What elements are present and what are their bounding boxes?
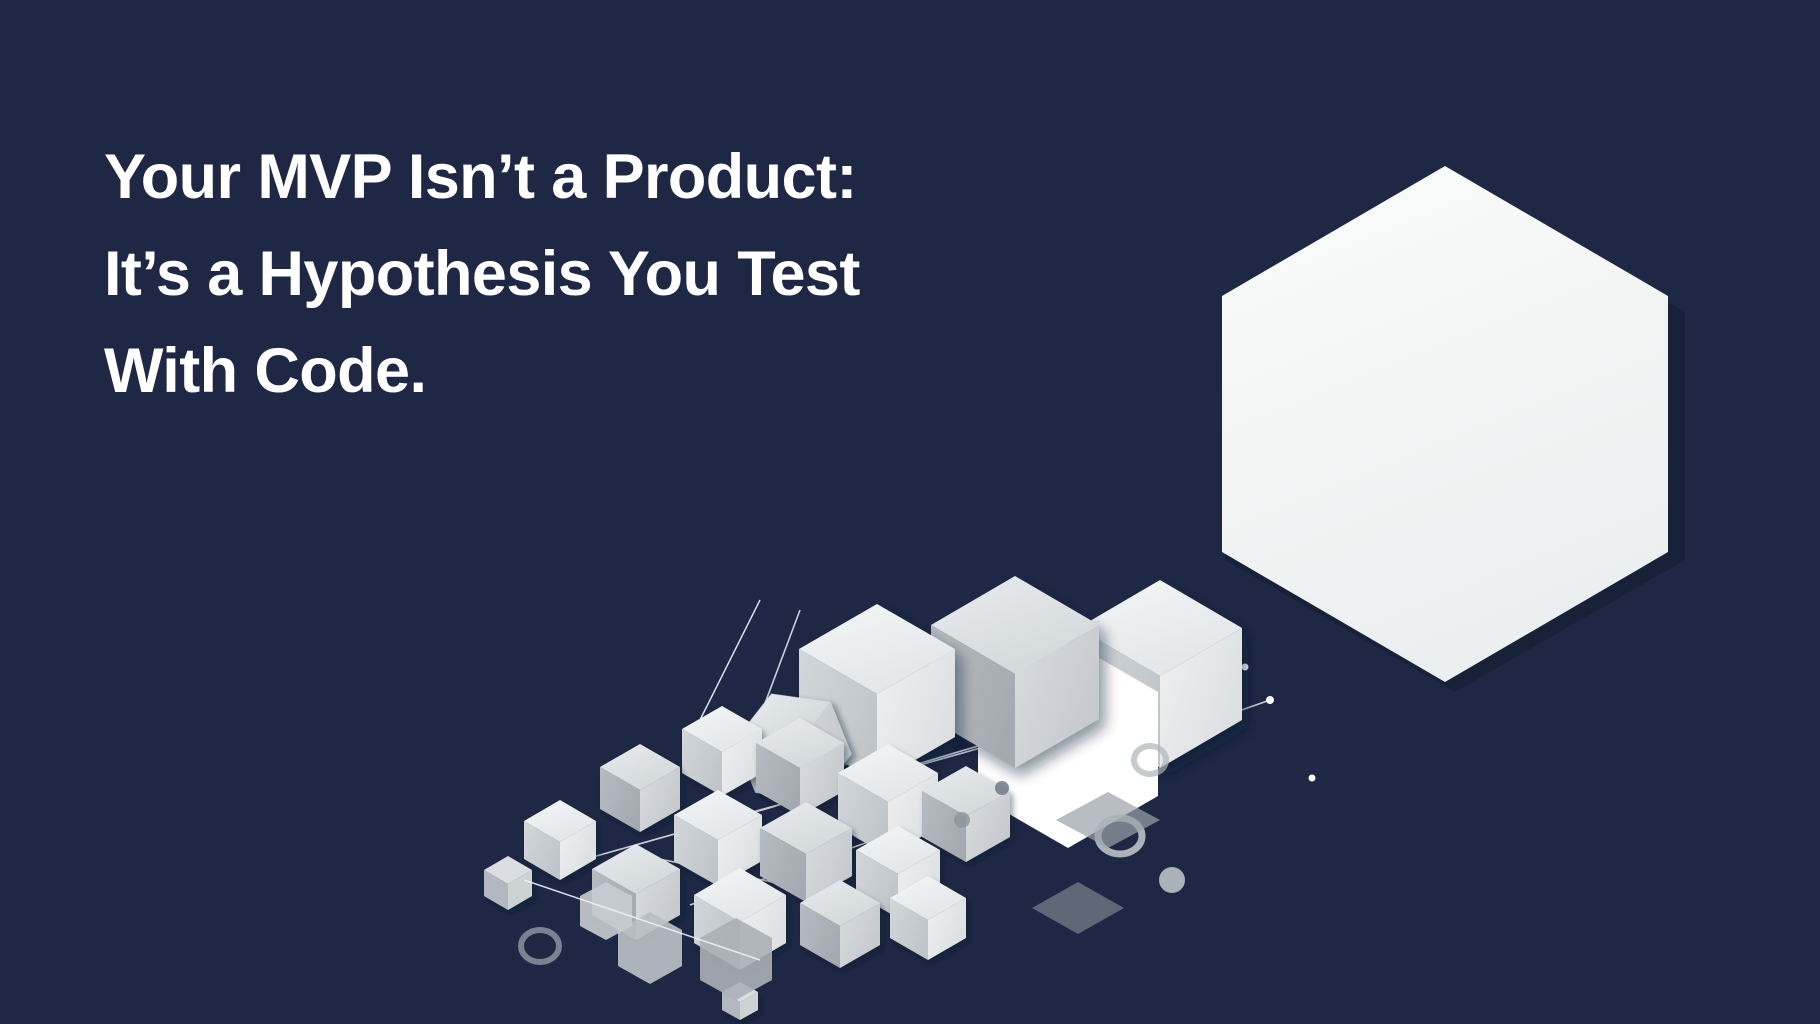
cube-small — [600, 744, 680, 832]
cube-small — [524, 800, 596, 880]
title-line-2: It’s a Hypothesis You Test — [104, 226, 1124, 323]
torus-shape — [521, 930, 559, 962]
cube-tiny — [484, 856, 532, 910]
large-hexagon — [1222, 166, 1685, 692]
cube-small — [674, 790, 762, 886]
slide-canvas: Your MVP Isn’t a Product: It’s a Hypothe… — [0, 0, 1820, 1024]
cube-small — [682, 706, 762, 796]
sphere-shape — [1159, 867, 1185, 893]
page-title: Your MVP Isn’t a Product: It’s a Hypothe… — [104, 129, 1124, 420]
sphere-shape — [954, 812, 970, 828]
title-line-3: With Code. — [104, 323, 1124, 420]
flat-plate — [1032, 882, 1124, 934]
sphere-shape — [995, 781, 1009, 795]
title-line-1: Your MVP Isn’t a Product: — [104, 129, 1124, 226]
